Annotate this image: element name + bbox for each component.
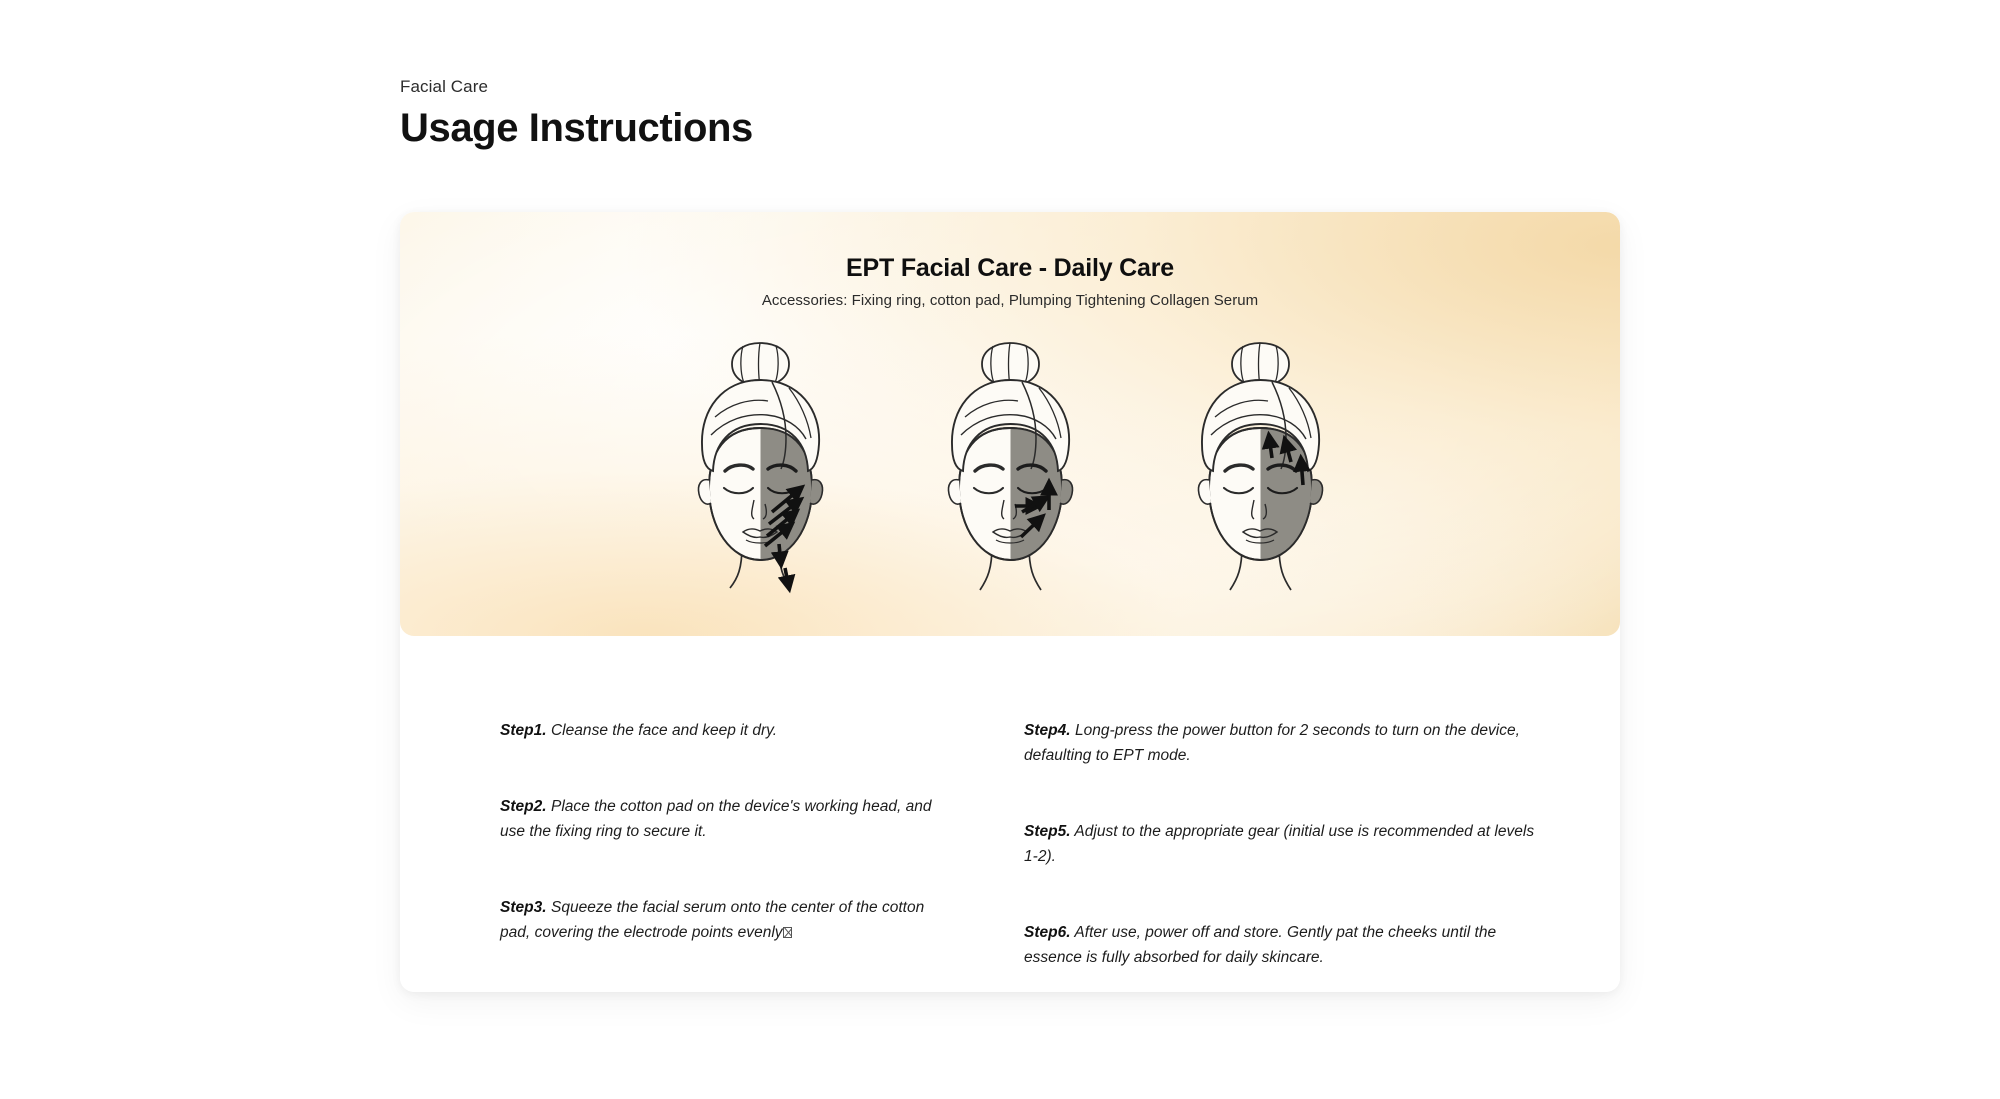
step-label: Step5. — [1024, 823, 1071, 840]
page-header: Facial Care Usage Instructions — [400, 76, 1300, 152]
banner-subtitle: Accessories: Fixing ring, cotton pad, Pl… — [400, 291, 1620, 311]
step-item: Step3. Squeeze the facial serum onto the… — [500, 895, 948, 945]
step-item: Step5. Adjust to the appropriate gear (i… — [1024, 819, 1538, 869]
step-item: Step1. Cleanse the face and keep it dry. — [500, 718, 948, 743]
instructions-card: EPT Facial Care - Daily Care Accessories… — [400, 212, 1620, 992]
step-item: Step4. Long-press the power button for 2… — [1024, 718, 1538, 768]
breadcrumb: Facial Care — [400, 76, 1300, 98]
page-root: Facial Care Usage Instructions EPT Facia… — [0, 0, 2000, 1099]
step-item: Step6. After use, power off and store. G… — [1024, 920, 1538, 970]
step-label: Step3. — [500, 899, 547, 916]
face-forehead-lift-illustration — [1168, 340, 1353, 602]
banner-title: EPT Facial Care - Daily Care — [400, 253, 1620, 283]
page-title: Usage Instructions — [400, 104, 1300, 152]
step-label: Step4. — [1024, 722, 1071, 739]
product-banner: EPT Facial Care - Daily Care Accessories… — [400, 212, 1620, 636]
step-text: Place the cotton pad on the device's wor… — [500, 798, 932, 840]
step-label: Step2. — [500, 798, 547, 815]
step-item: Step2. Place the cotton pad on the devic… — [500, 794, 948, 844]
steps-section: Step1. Cleanse the face and keep it dry.… — [400, 636, 1620, 992]
step-text: Cleanse the face and keep it dry. — [551, 722, 777, 739]
steps-column-left: Step1. Cleanse the face and keep it dry.… — [472, 718, 1010, 970]
step-text: Adjust to the appropriate gear (initial … — [1024, 823, 1534, 865]
steps-grid: Step1. Cleanse the face and keep it dry.… — [400, 636, 1620, 970]
face-cheek-lift-illustration — [668, 340, 853, 602]
step-label: Step6. — [1024, 924, 1071, 941]
face-midface-lift-illustration — [918, 340, 1103, 602]
step-label: Step1. — [500, 722, 547, 739]
steps-column-right: Step4. Long-press the power button for 2… — [1010, 718, 1548, 970]
step-text: Long-press the power button for 2 second… — [1024, 722, 1520, 764]
face-illustrations — [400, 340, 1620, 602]
missing-glyph-icon — [783, 927, 792, 938]
step-text: Squeeze the facial serum onto the center… — [500, 899, 924, 941]
step-text: After use, power off and store. Gently p… — [1024, 924, 1496, 966]
